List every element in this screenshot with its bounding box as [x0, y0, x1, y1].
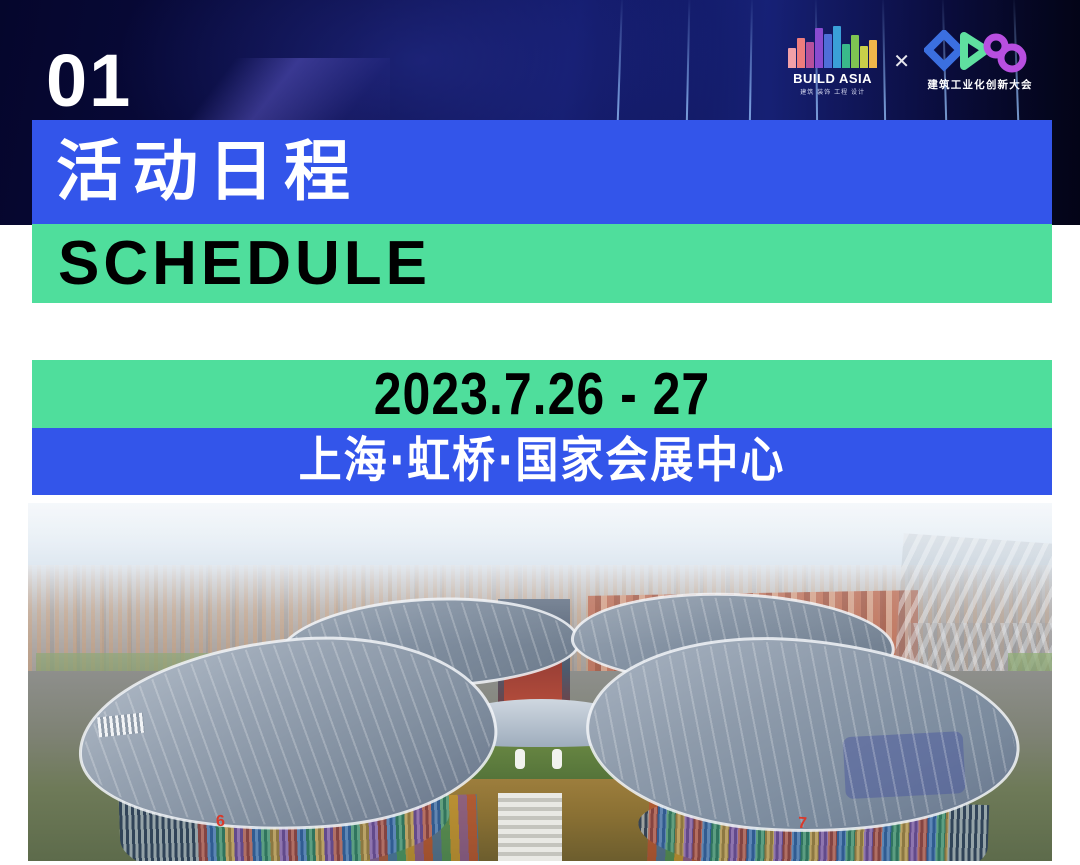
photo-mascot-left: [515, 749, 525, 769]
title-cn-bar: 活动日程: [32, 120, 1052, 224]
cross-separator-icon: ✕: [893, 49, 910, 74]
venue-photo: 6 7: [28, 503, 1052, 861]
conference-name: 建筑工业化创新大会: [927, 77, 1032, 92]
title-cn-text: 活动日程: [56, 139, 360, 205]
date-bar: 2023.7.26 - 27: [32, 360, 1052, 428]
conference-logo: 建筑工业化创新大会: [924, 30, 1036, 92]
photo-hall-label-6: 6: [216, 813, 226, 831]
build-asia-subtitle: 建筑 装饰 工程 设计: [800, 87, 865, 96]
photo-stairs: [498, 793, 562, 861]
title-en-bar: SCHEDULE: [32, 224, 1052, 303]
abstract-marks-icon: [924, 30, 1036, 74]
skyline-icon: [788, 26, 877, 68]
venue-text: 上海·虹桥·国家会展中心: [299, 437, 786, 485]
logo-lockup: BUILD ASIA 建筑 装饰 工程 设计 ✕ 建筑工业化创新大会: [786, 18, 1036, 104]
photo-hall-label-7: 7: [798, 815, 808, 833]
build-asia-logo: BUILD ASIA 建筑 装饰 工程 设计: [786, 26, 879, 96]
section-number: 01: [46, 44, 132, 118]
date-text: 2023.7.26 - 27: [374, 365, 711, 424]
schedule-poster: 01 BUILD ASIA 建筑 装饰 工程 设计 ✕: [0, 0, 1080, 865]
build-asia-name: BUILD ASIA: [793, 71, 872, 86]
photo-mascot-right: [552, 749, 562, 769]
title-en-text: SCHEDULE: [58, 233, 431, 295]
venue-bar: 上海·虹桥·国家会展中心: [32, 428, 1052, 495]
